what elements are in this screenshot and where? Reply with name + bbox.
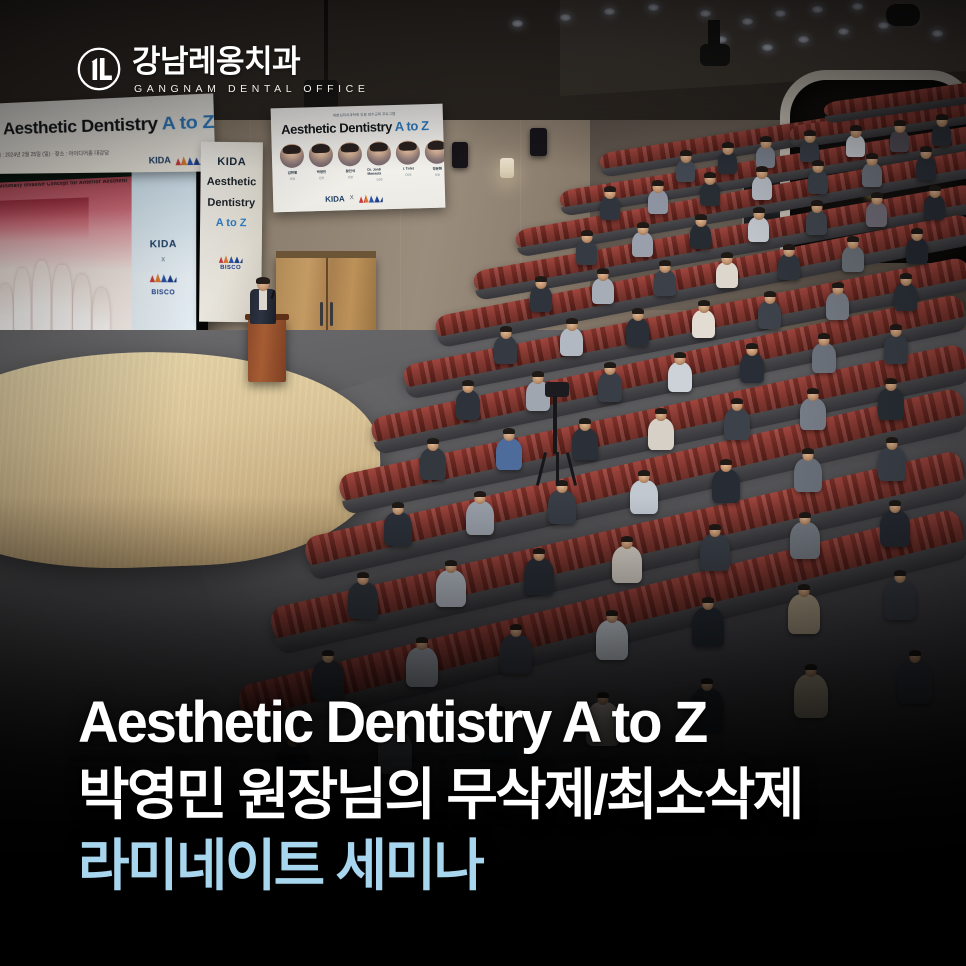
circle-1l-monogram-icon — [76, 46, 122, 92]
brand-logo: 강남레옹치과 GANGNAM DENTAL OFFICE — [76, 46, 369, 95]
tripod-column — [553, 396, 557, 454]
brand-name-ko: 강남레옹치과 — [132, 46, 369, 79]
headline-line-1: Aesthetic Dentistry A to Z — [78, 693, 893, 752]
seminar-poster: Minimally Invasive Concept for Anterior … — [0, 0, 966, 966]
headline-line-2: 박영민 원장님의 무삭제/최소삭제 — [78, 766, 918, 823]
headline-block: Aesthetic Dentistry A to Z 박영민 원장님의 무삭제/… — [78, 693, 918, 894]
brand-logo-text: 강남레옹치과 GANGNAM DENTAL OFFICE — [132, 46, 369, 95]
headline-line-3: 라미네이트 세미나 — [78, 837, 918, 894]
video-camera — [545, 382, 569, 397]
brand-name-en: GANGNAM DENTAL OFFICE — [134, 83, 369, 95]
